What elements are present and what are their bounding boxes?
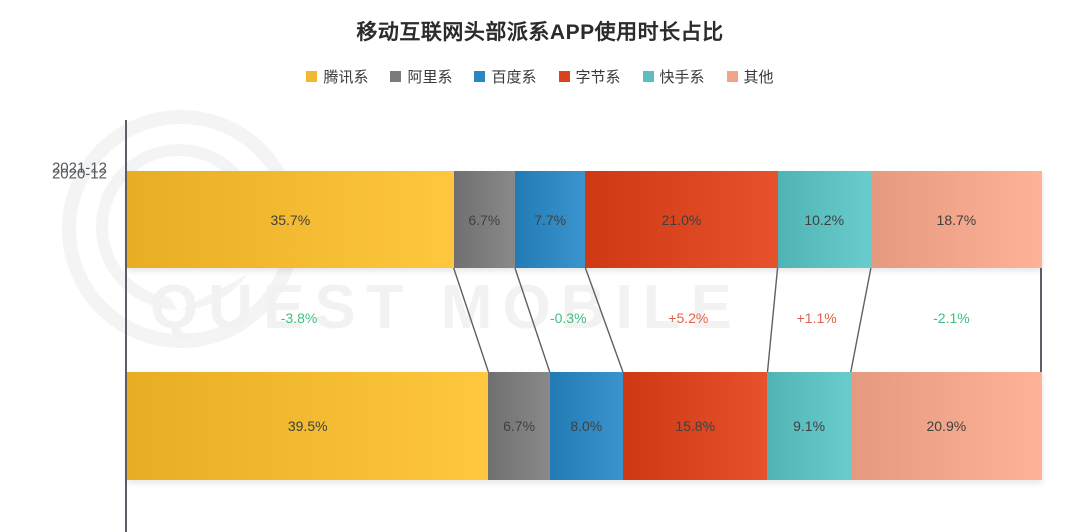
bar-segment[interactable]: 10.2% [778,171,871,268]
legend-item-label: 其他 [744,66,774,87]
chart-title: 移动互联网头部派系APP使用时长占比 [0,16,1080,46]
bar-segment[interactable]: 6.7% [454,171,515,268]
bar-segment[interactable]: 20.9% [851,372,1042,480]
legend-item-2[interactable]: 百度系 [474,66,536,87]
bar-segment-label: 7.7% [534,212,566,228]
legend-item-label: 字节系 [576,66,621,87]
bar-segment[interactable]: 8.0% [550,372,623,480]
bar-segment[interactable]: 15.8% [623,372,768,480]
legend-item-label: 腾讯系 [323,66,368,87]
legend-item-label: 快手系 [660,66,705,87]
connector-line [515,268,550,372]
chart-legend: 腾讯系阿里系百度系字节系快手系其他 [0,66,1080,87]
legend-item-0[interactable]: 腾讯系 [306,66,368,87]
bar-segment-label: 10.2% [804,212,844,228]
bar-segment-label: 21.0% [662,212,702,228]
bar-segment[interactable]: 18.7% [871,171,1042,268]
bar-segment[interactable]: 7.7% [515,171,585,268]
bar-segment-label: 18.7% [937,212,977,228]
stacked-bar-2020-12[interactable]: 39.5%6.7%8.0%15.8%9.1%20.9% [127,372,1042,480]
bar-segment[interactable]: 21.0% [585,171,777,268]
bar-segment-label: 35.7% [270,212,310,228]
legend-swatch-icon [390,71,401,82]
stacked-bar-2021-12[interactable]: 35.7%6.7%7.7%21.0%10.2%18.7% [127,171,1042,268]
bar-segment[interactable]: 6.7% [488,372,549,480]
plot-area: 2021-12 2020-12 35.7%6.7%7.7%21.0%10.2%1… [125,120,1042,532]
chart-container: 移动互联网头部派系APP使用时长占比 腾讯系阿里系百度系字节系快手系其他 202… [0,0,1080,532]
bar-segment-label: 15.8% [675,418,715,434]
bar-segment[interactable]: 39.5% [127,372,488,480]
connector-line [768,268,778,372]
字节系-delta: +5.2% [668,310,708,326]
腾讯系-delta: -3.8% [281,310,318,326]
legend-item-1[interactable]: 阿里系 [390,66,452,87]
legend-item-3[interactable]: 字节系 [559,66,621,87]
connector-line [585,268,623,372]
legend-swatch-icon [559,71,570,82]
快手系-delta: +1.1% [797,310,837,326]
legend-swatch-icon [474,71,485,82]
legend-item-5[interactable]: 其他 [727,66,774,87]
bar-segment-label: 8.0% [570,418,602,434]
bar-segment-label: 9.1% [793,418,825,434]
bar-segment-label: 6.7% [503,418,535,434]
bar-segment[interactable]: 9.1% [767,372,850,480]
connector-line [454,268,489,372]
legend-swatch-icon [643,71,654,82]
bar-segment-label: 6.7% [468,212,500,228]
bar-segment-label: 39.5% [288,418,328,434]
bar-segment-label: 20.9% [926,418,966,434]
其他-delta: -2.1% [933,310,970,326]
bar-segment[interactable]: 35.7% [127,171,454,268]
legend-swatch-icon [306,71,317,82]
legend-swatch-icon [727,71,738,82]
axis-label-2020-12: 2020-12 [52,166,107,183]
legend-item-label: 百度系 [491,66,536,87]
connector-line [851,268,871,372]
legend-item-label: 阿里系 [407,66,452,87]
百度系-delta: -0.3% [550,310,587,326]
legend-item-4[interactable]: 快手系 [643,66,705,87]
